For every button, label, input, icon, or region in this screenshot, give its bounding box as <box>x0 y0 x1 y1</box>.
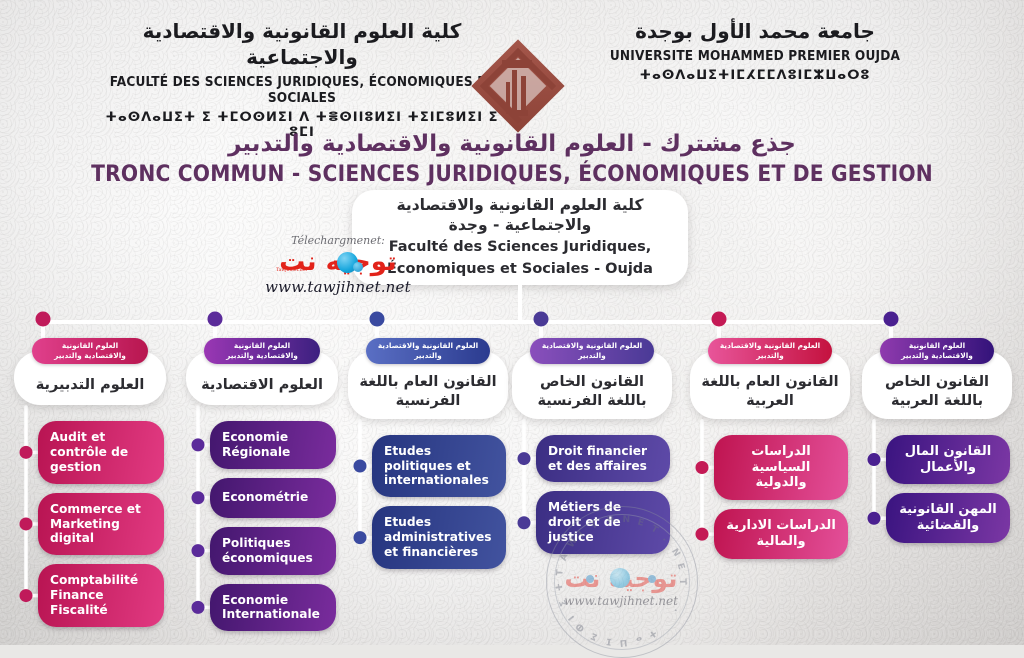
watermark-url: www.tawjihnet.net <box>528 594 714 608</box>
tawjihnet-sphere-small-icon <box>353 262 363 272</box>
column-items-droit-prive-arabe: القانون المال والأعمالالمهن القانونية وا… <box>862 435 1012 543</box>
column-tag-label: العلوم القانونية والاقتصادية والتدبير <box>40 341 140 361</box>
column-title: القانون العام باللغة الفرنسية <box>356 373 500 411</box>
program-item[interactable]: Politiques économiques <box>210 527 336 575</box>
program-item-label: Commerce et Marketing digital <box>50 502 152 547</box>
program-item-label: الدراسات الادارية والمالية <box>726 518 836 550</box>
column-items-droit-public-francais: Etudes politiques et internationalesEtud… <box>348 435 508 569</box>
watermark-ring-char: ⴰ <box>634 634 643 646</box>
column-tag-sciences-economiques: العلوم القانونية والاقتصادية والتدبير <box>204 338 320 364</box>
infographic-canvas: كلية العلوم القانونية والاقتصادية والاجت… <box>0 0 1024 645</box>
program-item[interactable]: الدراسات الادارية والمالية <box>714 509 848 559</box>
column-tag-droit-public-arabe: العلوم القانونية والاقتصادية والتدبير <box>708 338 832 364</box>
program-item[interactable]: Etudes politiques et internationales <box>372 435 506 498</box>
program-item-label: Comptabilité Finance Fiscalité <box>50 573 152 618</box>
page-title-arabic: جذع مشترك - العلوم القانونية والاقتصادية… <box>0 130 1024 159</box>
root-french-line-2: Économiques et Sociales - Oujda <box>387 260 653 279</box>
program-item[interactable]: Commerce et Marketing digital <box>38 493 164 556</box>
column-droit-public-francais: العلوم القانونية والاقتصادية والتدبيرالق… <box>348 338 508 578</box>
program-item-label: Etudes administratives et financières <box>384 515 494 560</box>
program-item[interactable]: Economie Régionale <box>210 421 336 469</box>
watermark-ring-char: J <box>577 530 586 540</box>
program-item-label: Politiques économiques <box>222 536 324 566</box>
root-arabic-line-2: والاجتماعية - وجدة <box>449 216 592 236</box>
header: كلية العلوم القانونية والاقتصادية والاجت… <box>0 18 1024 126</box>
column-tag-label: العلوم القانونية والاقتصادية والتدبير <box>538 341 646 361</box>
program-item-label: القانون المال والأعمال <box>898 444 998 476</box>
column-items-sciences-de-gestion: Audit et contrôle de gestionCommerce et … <box>14 421 166 627</box>
column-droit-prive-arabe: العلوم القانونية والاقتصادية والتدبيرالق… <box>862 338 1012 552</box>
column-title: العلوم الاقتصادية <box>201 376 323 395</box>
university-crest-icon <box>472 34 564 138</box>
university-name-french: UNIVERSITE MOHAMMED PREMIER OUJDA <box>555 48 955 64</box>
university-identity: جامعة محمد الأول بوجدة UNIVERSITE MOHAMM… <box>555 18 955 83</box>
watermark-ring-char: ⵜ <box>646 627 658 640</box>
watermark-ring-char: ⵉ <box>590 630 600 642</box>
column-sciences-de-gestion: العلوم القانونية والاقتصادية والتدبيرالع… <box>14 338 166 636</box>
column-bullet-dot <box>36 312 51 327</box>
program-item[interactable]: Economie Internationale <box>210 584 336 632</box>
column-tag-sciences-de-gestion: العلوم القانونية والاقتصادية والتدبير <box>32 338 148 364</box>
page-title-french: TRONC COMMUN - SCIENCES JURIDIQUES, ÉCON… <box>0 161 1024 187</box>
program-item[interactable]: Econométrie <box>210 478 336 518</box>
column-bullet-dot <box>534 312 549 327</box>
column-sciences-economiques: العلوم القانونية والاقتصادية والتدبيرالع… <box>186 338 338 640</box>
program-item-label: Econométrie <box>222 490 324 505</box>
watermark-ring-char: A <box>559 553 571 563</box>
column-tag-label: العلوم القانونية والاقتصادية والتدبير <box>888 341 986 361</box>
watermark-ring-char: E <box>636 517 645 528</box>
program-item[interactable]: Droit financier et des affaires <box>536 435 670 483</box>
program-item-label: المهن القانونية والقضائية <box>898 502 998 534</box>
program-item-label: الدراسات السياسية والدولية <box>726 444 836 492</box>
watermark-ring-char: W <box>566 536 580 550</box>
column-bullet-dot <box>712 312 727 327</box>
program-item[interactable]: القانون المال والأعمال <box>886 435 1010 485</box>
column-bullet-dot <box>884 312 899 327</box>
watermark-ring-char: N <box>669 547 681 559</box>
column-tag-label: العلوم القانونية والاقتصادية والتدبير <box>374 341 482 361</box>
column-tag-label: العلوم القانونية والاقتصادية والتدبير <box>212 341 312 361</box>
watermark-sphere-icon <box>610 568 630 588</box>
university-name-tifinagh: ⵜⴰⵙⴷⴰⵡⵉⵜⵏⵎⵃⵎⵎⴷⵓⵏⵎⵣⵡⴰⵔⵓ <box>555 68 955 83</box>
root-arabic-line-1: كلية العلوم القانونية والاقتصادية <box>397 196 644 216</box>
column-title: القانون العام باللغة العربية <box>698 373 842 411</box>
tawjihnet-logo-icon: توجيه نت Tawjihnet.net <box>258 248 418 276</box>
column-tag-droit-public-francais: العلوم القانونية والاقتصادية والتدبير <box>366 338 490 364</box>
download-source-logo: Télechargmenet: توجيه نت Tawjihnet.net w… <box>258 234 418 296</box>
watermark-ring-char: ⵏ <box>567 613 577 622</box>
watermark-ring-char: ⵀ <box>574 620 587 633</box>
column-tag-droit-prive-arabe: العلوم القانونية والاقتصادية والتدبير <box>880 338 994 364</box>
program-item-label: Audit et contrôle de gestion <box>50 430 152 475</box>
program-item-label: Droit financier et des affaires <box>548 444 658 474</box>
tawjihnet-url: www.tawjihnet.net <box>258 278 418 296</box>
column-title: القانون الخاص باللغة العربية <box>870 373 1004 411</box>
column-bullet-dot <box>208 312 223 327</box>
program-item-label: Economie Internationale <box>222 593 324 623</box>
tawjihnet-watermark-stamp: TAWJIHNET.NET ⋅ ⵜⴰⵡⵊⵉⵀⵏⵉⵜ توجيه نت www.t… <box>528 528 714 644</box>
program-item[interactable]: Comptabilité Finance Fiscalité <box>38 564 164 627</box>
faculty-name-arabic: كلية العلوم القانونية والاقتصادية والاجت… <box>102 18 502 70</box>
watermark-ring-char: ⵡ <box>619 637 628 648</box>
program-item-label: Economie Régionale <box>222 430 324 460</box>
faculty-name-french: FACULTÉ DES SCIENCES JURIDIQUES, ÉCONOMI… <box>102 74 502 106</box>
column-droit-public-arabe: العلوم القانونية والاقتصادية والتدبيرالق… <box>690 338 850 568</box>
column-items-sciences-economiques: Economie RégionaleEconométriePolitiques … <box>186 421 338 631</box>
university-name-arabic: جامعة محمد الأول بوجدة <box>555 18 955 44</box>
program-item[interactable]: Audit et contrôle de gestion <box>38 421 164 484</box>
program-item-label: Etudes politiques et internationales <box>384 444 494 489</box>
program-item[interactable]: المهن القانونية والقضائية <box>886 493 1010 543</box>
program-item[interactable]: Etudes administratives et financières <box>372 506 506 569</box>
watermark-ring-char: . <box>660 534 669 544</box>
faculty-identity: كلية العلوم القانونية والاقتصادية والاجت… <box>102 18 502 140</box>
column-items-droit-public-arabe: الدراسات السياسية والدوليةالدراسات الادا… <box>690 435 850 559</box>
column-tag-droit-prive-francais: العلوم القانونية والاقتصادية والتدبير <box>530 338 654 364</box>
column-title: القانون الخاص باللغة الفرنسية <box>520 373 664 411</box>
page-title: جذع مشترك - العلوم القانونية والاقتصادية… <box>0 130 1024 187</box>
column-title: العلوم التدبيرية <box>36 376 145 395</box>
root-french-line-1: Faculté des Sciences Juridiques, <box>389 238 652 257</box>
download-caption: Télechargmenet: <box>258 234 418 247</box>
tawjihnet-brand-small: Tawjihnet.net <box>276 268 307 273</box>
column-tag-label: العلوم القانونية والاقتصادية والتدبير <box>716 341 824 361</box>
column-bullet-dot <box>370 312 385 327</box>
watermark-ring-char: N <box>622 515 630 525</box>
program-item[interactable]: الدراسات السياسية والدولية <box>714 435 848 501</box>
